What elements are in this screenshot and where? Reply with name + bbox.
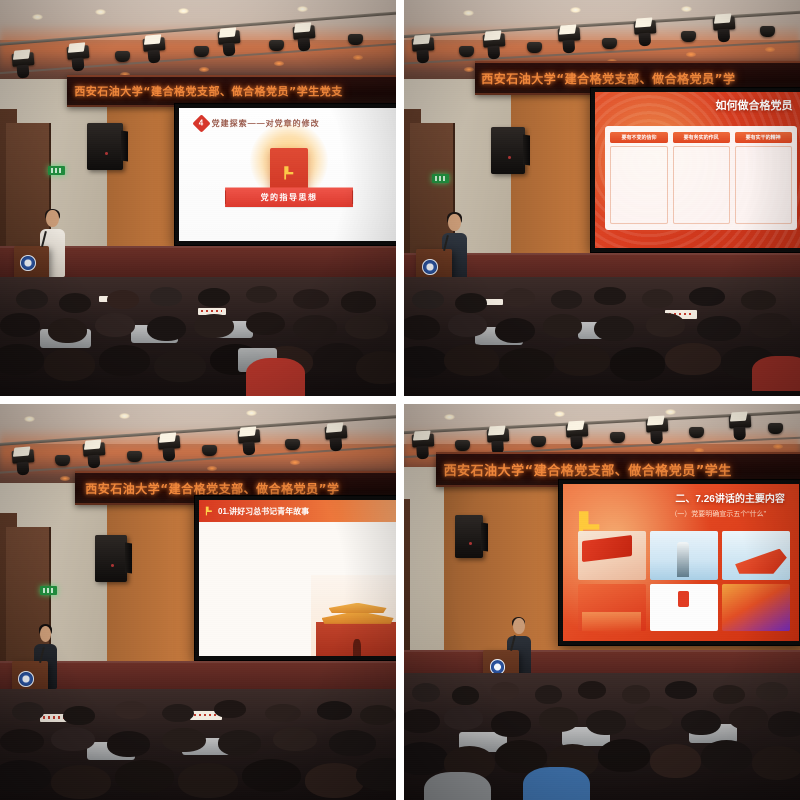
stage-light-icon: [487, 428, 510, 442]
stage-light-icon: [142, 37, 165, 52]
slide-column: 要有不变的信仰: [610, 132, 667, 223]
loudspeaker-icon: [87, 123, 123, 171]
stage-light-icon: [115, 51, 130, 62]
stage-light-icon: [83, 442, 106, 457]
stage-light-icon: [681, 31, 696, 42]
exit-sign-icon: [48, 166, 65, 175]
slide-columns: 要有不变的信仰 要有务实的作风: [605, 126, 796, 229]
column-body: [673, 146, 730, 223]
hammer-sickle-icon: [282, 165, 297, 180]
university-crest-icon: [18, 671, 34, 687]
stage-light-icon: [67, 45, 90, 60]
picture-lighthouse: [650, 531, 718, 579]
picture-red-ship: [722, 531, 790, 579]
column-header: 要有务实的作风: [673, 132, 730, 143]
slide-badge-number: 4: [199, 120, 203, 128]
stage-light-icon: [217, 30, 240, 45]
stage-light-icon: [483, 33, 506, 48]
slide-content: 4 党建探索——对党章的修改 党的指导思想: [179, 108, 396, 241]
photo-collage: 西安石油大学“建合格党支部、做合格党员”学生党支 4 党建探索——对党章的修改 …: [0, 0, 800, 800]
exit-sign-icon: [40, 586, 57, 595]
stage-light-icon: [768, 423, 783, 434]
column-header: 要有不变的信仰: [610, 132, 667, 143]
audience: [0, 277, 396, 396]
speaker-head: [448, 214, 460, 232]
downlight-icon: [297, 6, 308, 12]
university-crest-icon: [490, 659, 506, 675]
slide-header-text: 01.讲好习总书记青年故事: [218, 506, 309, 517]
slide-ribbon: 党的指导思想: [225, 187, 353, 207]
audience: [0, 689, 396, 800]
stage-light-icon: [412, 433, 435, 447]
picture-white-poster: [650, 584, 718, 631]
slide-title: 二、7.26讲话的主要内容: [675, 490, 784, 505]
picture-spirit-poster: [578, 584, 646, 631]
downlight-icon: [32, 14, 43, 20]
slide-content: 二、7.26讲话的主要内容 （一）党要明确宣示五个“什么”: [563, 484, 799, 640]
loudspeaker-icon: [455, 515, 483, 559]
stage-light-icon: [459, 46, 474, 57]
stage-light-icon: [531, 436, 546, 447]
stage-light-icon: [158, 436, 181, 451]
downlight-icon: [444, 414, 455, 420]
slide-subtitle: （一）党要明确宣示五个“什么”: [670, 509, 766, 519]
downlight-icon: [178, 8, 189, 14]
column-body: [735, 146, 792, 223]
column-body: [610, 146, 667, 223]
hammer-sickle-icon: [204, 506, 214, 516]
projection-screen[interactable]: 4 党建探索——对党章的修改 党的指导思想: [174, 103, 396, 246]
tiananmen-image: [311, 575, 396, 656]
stage-light-icon: [689, 427, 704, 438]
audience: [404, 277, 800, 396]
stage-light-icon: [11, 449, 34, 464]
projection-screen[interactable]: 二、7.26讲话的主要内容 （一）党要明确宣示五个“什么”: [558, 479, 800, 645]
banner-text: 西安石油大学“建合格党支部、做合格党员”学生: [436, 460, 732, 479]
stage-light-icon: [712, 17, 735, 32]
stage-light-icon: [11, 53, 34, 68]
downlight-icon: [681, 6, 692, 12]
ribbon-text: 党的指导思想: [261, 192, 318, 203]
handwritten-body: [211, 531, 323, 549]
stage-light-icon: [610, 432, 625, 443]
speaker-head: [40, 626, 51, 642]
stage-light-icon: [237, 429, 260, 444]
stage-light-icon: [645, 418, 668, 432]
banner-text: 西安石油大学“建合格党支部、做合格党员”学生党支: [67, 83, 342, 99]
exit-sign-icon: [432, 174, 449, 183]
downlight-icon: [95, 9, 106, 15]
stage-light-icon: [566, 423, 589, 437]
slide-column: 要有实干的精神: [735, 132, 792, 223]
stage-light-icon: [411, 37, 434, 52]
stage-light-icon: [602, 38, 617, 49]
panel-top-left[interactable]: 西安石油大学“建合格党支部、做合格党员”学生党支 4 党建探索——对党章的修改 …: [0, 0, 396, 396]
column-header: 要有实干的精神: [735, 132, 792, 143]
panel-bottom-right[interactable]: 西安石油大学“建合格党支部、做合格党员”学生 二、7.26讲话的主要内容 （一）…: [404, 404, 800, 800]
loudspeaker-icon: [491, 127, 525, 175]
stage-light-icon: [285, 439, 300, 450]
downlight-icon: [119, 413, 130, 419]
speaker-head: [513, 618, 524, 634]
slide-content: 01.讲好习总书记青年故事: [199, 500, 396, 656]
downlight-icon: [665, 409, 676, 415]
slide-picture-row-2: [578, 584, 790, 631]
slide-header-bar: 01.讲好习总书记青年故事: [199, 500, 396, 522]
university-crest-icon: [422, 259, 438, 275]
stage-light-icon: [728, 415, 751, 429]
slide-content: 如何做合格党员 要有不变的信仰 要有务实的作风: [595, 92, 800, 248]
stage-light-icon: [527, 42, 542, 53]
loudspeaker-icon: [95, 535, 127, 583]
speaker-head: [46, 210, 58, 228]
stage-light-icon: [127, 451, 142, 462]
stage-light-icon: [202, 445, 217, 456]
panel-top-right[interactable]: 西安石油大学“建合格党支部、做合格党员”学 如何做合格党员 要有不变的信仰: [404, 0, 800, 396]
banner-text: 西安石油大学“建合格党支部、做合格党员”学: [475, 70, 735, 87]
slide-picture-row-1: [578, 531, 790, 579]
downlight-icon: [24, 416, 35, 422]
stage-light-icon: [293, 25, 316, 40]
stage-light-icon: [558, 27, 581, 42]
projection-screen[interactable]: 如何做合格党员 要有不变的信仰 要有务实的作风: [590, 87, 800, 253]
stage-light-icon: [324, 425, 347, 440]
slide-title: 如何做合格党员: [716, 97, 793, 113]
slide-badge: 4: [192, 115, 210, 133]
picture-national-poster: [722, 584, 790, 631]
university-crest-icon: [20, 255, 36, 271]
slide-column: 要有务实的作风: [673, 132, 730, 223]
audience: [404, 673, 800, 800]
panel-bottom-left[interactable]: 西安石油大学“建合格党支部、做合格党员”学 01.讲好习总书记青年故事: [0, 404, 396, 800]
projection-screen[interactable]: 01.讲好习总书记青年故事: [194, 495, 396, 661]
stage-light-icon: [194, 46, 209, 57]
picture-party-flag-crowd: [578, 531, 646, 579]
stage-light-icon: [633, 21, 656, 36]
